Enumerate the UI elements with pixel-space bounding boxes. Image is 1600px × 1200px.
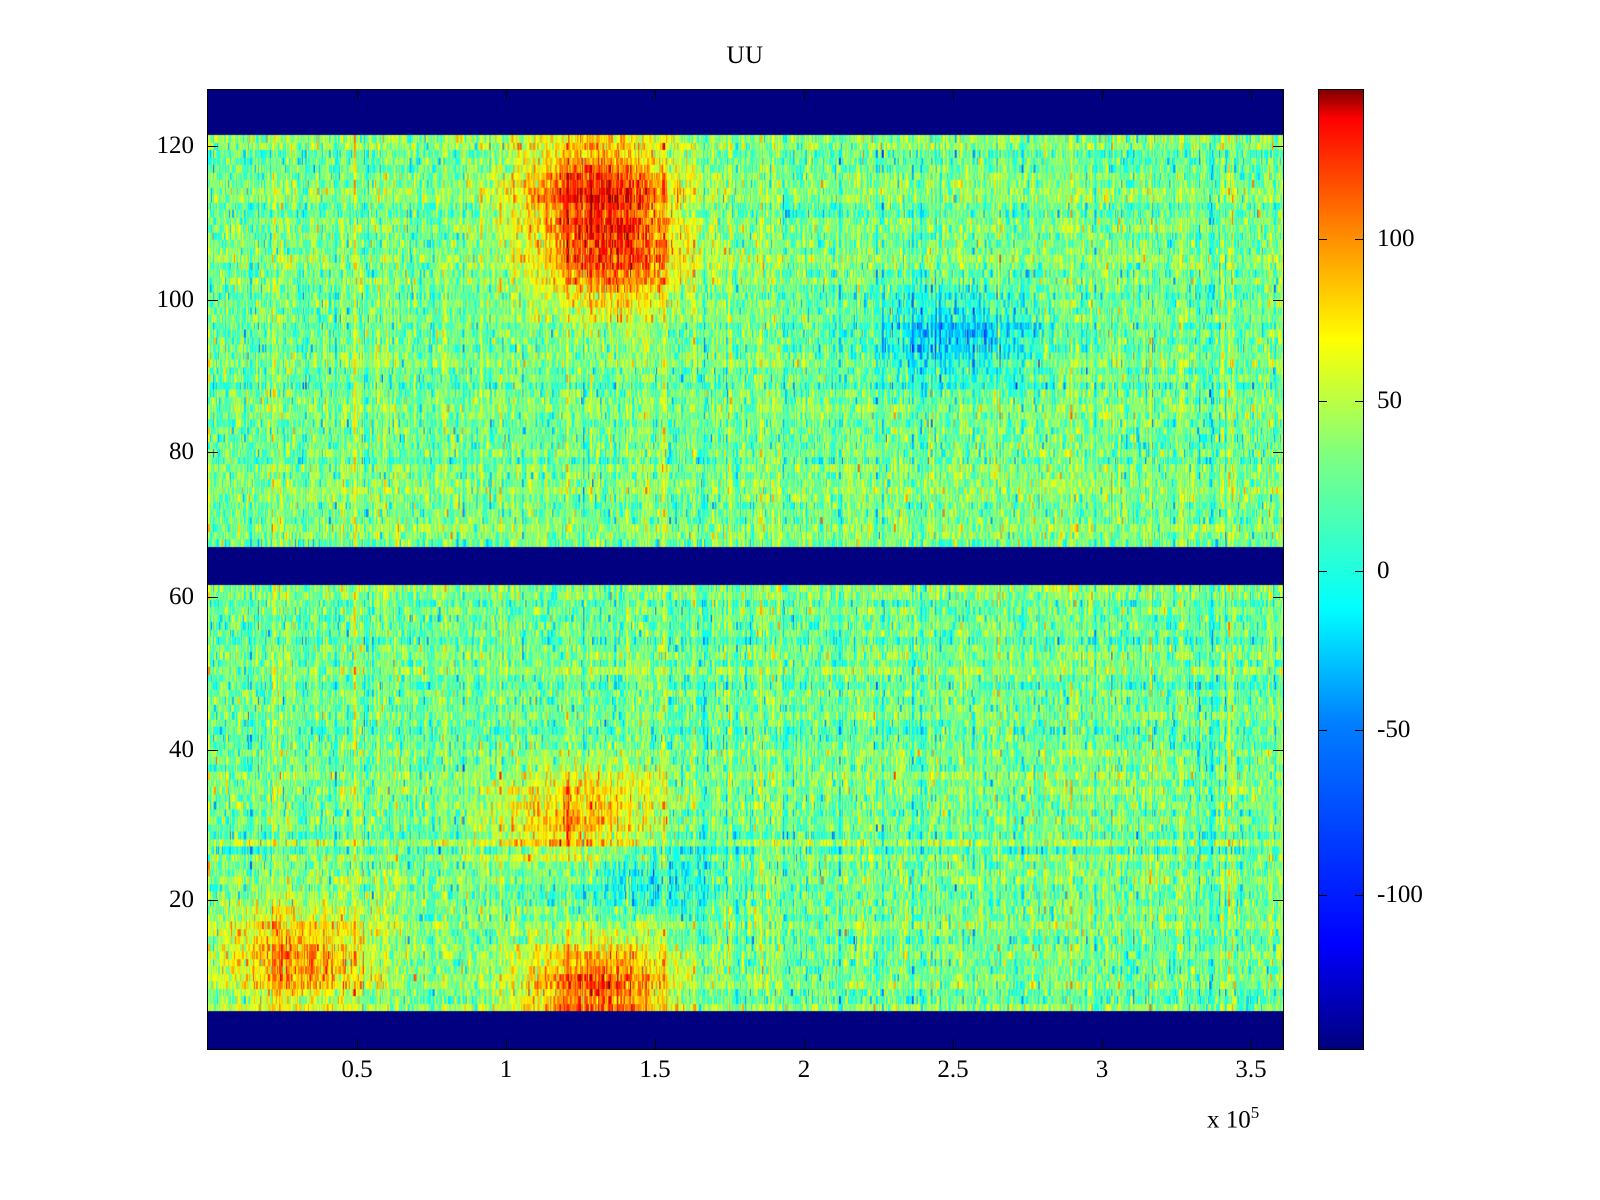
ytick-mark-100-left — [207, 300, 218, 301]
xtick-mark-3p5-top — [1251, 89, 1252, 100]
ytick-mark-120-left — [207, 146, 218, 147]
heatmap-axes[interactable] — [207, 89, 1284, 1050]
xtick-mark-1p5-top — [655, 89, 656, 100]
page-title: UU — [0, 42, 1490, 70]
ytick-mark-80-right — [1273, 452, 1284, 453]
colorbar-tick-neg50-left — [1318, 730, 1327, 731]
ytick-label-20: 20 — [134, 886, 194, 914]
xaxis-multiplier-label: x 105 — [1207, 1103, 1259, 1134]
colorbar-tick-100-right — [1355, 239, 1364, 240]
ytick-mark-100-right — [1273, 300, 1284, 301]
colorbar-label-neg50: -50 — [1377, 716, 1410, 744]
ytick-label-60: 60 — [134, 583, 194, 611]
ytick-mark-120-right — [1273, 146, 1284, 147]
colorbar-tick-neg100-right — [1355, 895, 1364, 896]
xtick-label-1: 1 — [461, 1056, 551, 1084]
xtick-mark-2p5-top — [953, 89, 954, 100]
xtick-mark-2p5-bottom — [953, 1039, 954, 1050]
colorbar-tick-neg100-left — [1318, 895, 1327, 896]
ytick-label-40: 40 — [134, 736, 194, 764]
ytick-mark-20-right — [1273, 900, 1284, 901]
xtick-label-1p5: 1.5 — [610, 1056, 700, 1084]
xtick-label-3p5: 3.5 — [1206, 1056, 1296, 1084]
ytick-label-80: 80 — [134, 438, 194, 466]
ytick-mark-20-left — [207, 900, 218, 901]
xtick-label-0p5: 0.5 — [312, 1056, 402, 1084]
ytick-mark-40-left — [207, 750, 218, 751]
ytick-mark-60-right — [1273, 597, 1284, 598]
xaxis-multiplier-base: x 10 — [1207, 1106, 1251, 1133]
colorbar-tick-50-left — [1318, 401, 1327, 402]
colorbar-tick-0-left — [1318, 571, 1327, 572]
colorbar-tick-0-right — [1355, 571, 1364, 572]
colorbar-tick-100-left — [1318, 239, 1327, 240]
xtick-mark-2-top — [804, 89, 805, 100]
xaxis-multiplier-exponent: 5 — [1251, 1103, 1260, 1122]
colorbar-label-0: 0 — [1377, 557, 1390, 585]
ytick-mark-60-left — [207, 597, 218, 598]
colorbar-tick-neg50-right — [1355, 730, 1364, 731]
xtick-mark-1-top — [506, 89, 507, 100]
xtick-mark-0p5-bottom — [357, 1039, 358, 1050]
colorbar-label-neg100: -100 — [1377, 881, 1423, 909]
xtick-label-2: 2 — [759, 1056, 849, 1084]
colorbar-tick-50-right — [1355, 401, 1364, 402]
ytick-mark-40-right — [1273, 750, 1284, 751]
ytick-mark-80-left — [207, 452, 218, 453]
xtick-mark-3-top — [1102, 89, 1103, 100]
heatmap-image — [208, 90, 1283, 1049]
xtick-mark-1-bottom — [506, 1039, 507, 1050]
ytick-label-120: 120 — [134, 132, 194, 160]
colorbar-label-100: 100 — [1377, 225, 1415, 253]
xtick-label-3: 3 — [1057, 1056, 1147, 1084]
xtick-mark-0p5-top — [357, 89, 358, 100]
matlab-figure: UU 120 100 80 60 40 20 0.5 1 1.5 2 2.5 3… — [0, 0, 1600, 1200]
xtick-mark-3p5-bottom — [1251, 1039, 1252, 1050]
xtick-mark-1p5-bottom — [655, 1039, 656, 1050]
colorbar[interactable] — [1318, 89, 1364, 1050]
xtick-mark-3-bottom — [1102, 1039, 1103, 1050]
xtick-label-2p5: 2.5 — [908, 1056, 998, 1084]
xtick-mark-2-bottom — [804, 1039, 805, 1050]
colorbar-label-50: 50 — [1377, 387, 1402, 415]
ytick-label-100: 100 — [134, 286, 194, 314]
